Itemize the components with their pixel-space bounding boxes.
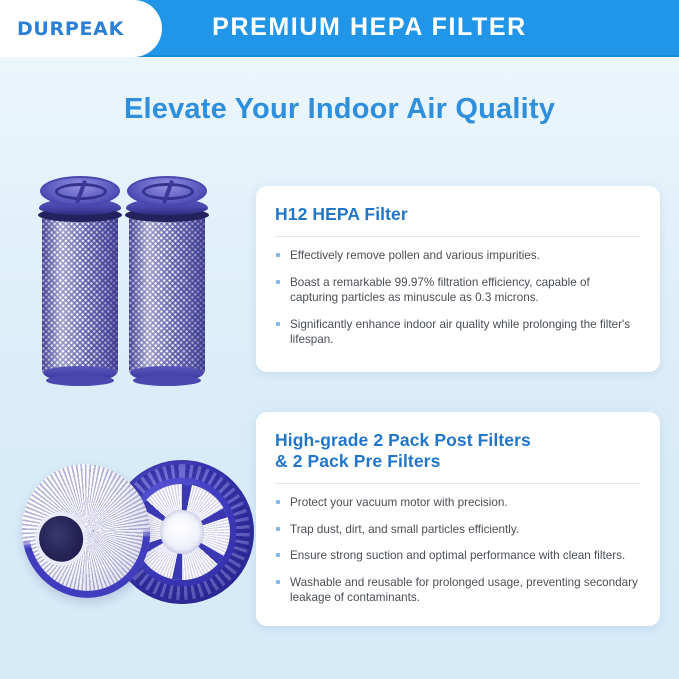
feature-card-title-line-1: High-grade 2 Pack Post Filters — [275, 430, 640, 451]
bullet-dot-icon — [276, 580, 280, 584]
post-filter-product-image — [22, 452, 254, 620]
list-item: Boast a remarkable 99.97% filtration eff… — [275, 275, 640, 306]
post-filter-hub — [160, 510, 204, 554]
bullet-dot-icon — [276, 527, 280, 531]
bullet-dot-icon — [276, 322, 280, 326]
header-bar: PREMIUM HEPA FILTER DURPEAK — [0, 0, 679, 57]
bullet-text: Boast a remarkable 99.97% filtration eff… — [290, 276, 590, 305]
feature-card-post-pre-filters: High-grade 2 Pack Post Filters & 2 Pack … — [256, 412, 660, 626]
list-item: Ensure strong suction and optimal perfor… — [275, 548, 640, 564]
feature-card-hepa: H12 HEPA Filter Effectively remove polle… — [256, 186, 660, 372]
pre-filter-base-lip — [46, 375, 114, 386]
bullet-dot-icon — [276, 553, 280, 557]
list-item: Effectively remove pollen and various im… — [275, 248, 640, 264]
bullet-text: Trap dust, dirt, and small particles eff… — [290, 523, 519, 536]
bullet-text: Washable and reusable for prolonged usag… — [290, 576, 638, 605]
pre-filter-mesh-body — [129, 214, 205, 374]
pre-filter-cap — [127, 176, 207, 206]
feature-card-title-line-2: & 2 Pack Pre Filters — [275, 451, 640, 472]
feature-card-title: High-grade 2 Pack Post Filters & 2 Pack … — [275, 430, 640, 472]
pre-filter-unit-left — [38, 168, 122, 386]
bullet-dot-icon — [276, 253, 280, 257]
pre-filter-base-lip — [133, 375, 201, 386]
list-item: Trap dust, dirt, and small particles eff… — [275, 522, 640, 538]
feature-card-title: H12 HEPA Filter — [275, 204, 640, 225]
list-item: Washable and reusable for prolonged usag… — [275, 575, 640, 606]
bullet-text: Effectively remove pollen and various im… — [290, 249, 540, 262]
list-item: Significantly enhance indoor air quality… — [275, 317, 640, 348]
bullet-dot-icon — [276, 500, 280, 504]
feature-card-body: High-grade 2 Pack Post Filters & 2 Pack … — [256, 412, 660, 606]
pre-filter-cap — [40, 176, 120, 206]
bullet-text: Ensure strong suction and optimal perfor… — [290, 549, 625, 562]
pre-filter-product-image — [30, 168, 240, 386]
bullet-text: Significantly enhance indoor air quality… — [290, 318, 630, 347]
bullet-dot-icon — [276, 280, 280, 284]
feature-bullet-list: Protect your vacuum motor with precision… — [275, 484, 640, 606]
brand-logo-text: DURPEAK — [17, 18, 124, 40]
product-infographic: PREMIUM HEPA FILTER DURPEAK Elevate Your… — [0, 0, 679, 679]
feature-bullet-list: Effectively remove pollen and various im… — [275, 237, 640, 348]
page-headline: Elevate Your Indoor Air Quality — [0, 93, 679, 126]
bullet-text: Protect your vacuum motor with precision… — [290, 496, 508, 509]
list-item: Protect your vacuum motor with precision… — [275, 495, 640, 511]
feature-card-body: H12 HEPA Filter Effectively remove polle… — [256, 186, 660, 348]
pre-filter-mesh-body — [42, 214, 118, 374]
brand-logo: DURPEAK — [0, 0, 162, 57]
pre-filter-unit-right — [125, 168, 209, 386]
